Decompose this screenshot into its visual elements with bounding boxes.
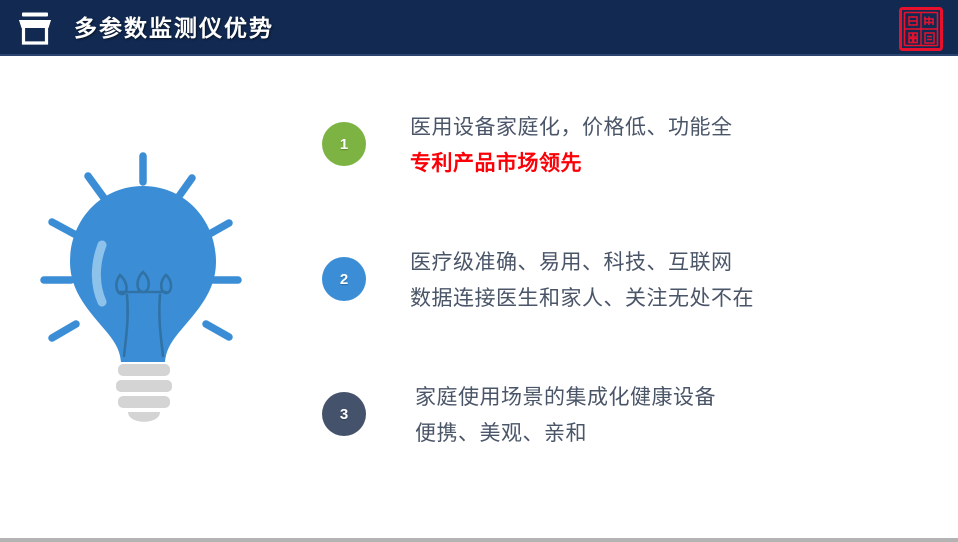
bullet-badge-2: 2 (322, 257, 366, 301)
bullet-text-3: 家庭使用场景的集成化健康设备 便携、美观、亲和 (415, 380, 716, 452)
advantages-list: 1 医用设备家庭化，价格低、功能全 专利产品市场领先 2 医疗级准确、易用、科技… (322, 110, 922, 515)
page-title: 多参数监测仪优势 (74, 12, 274, 44)
bullet-badge-1: 1 (322, 122, 366, 166)
bullet-line: 家庭使用场景的集成化健康设备 (415, 380, 716, 416)
bullet-line-highlight: 专利产品市场领先 (410, 146, 733, 182)
bullet-line: 医用设备家庭化，价格低、功能全 (410, 110, 733, 146)
bullet-text-1: 医用设备家庭化，价格低、功能全 专利产品市场领先 (410, 110, 733, 182)
list-item: 2 医疗级准确、易用、科技、互联网 数据连接医生和家人、关注无处不在 (322, 245, 922, 380)
bulb-base (116, 364, 172, 422)
header-bar: 多参数监测仪优势 (0, 0, 958, 56)
slide-root: 多参数监测仪优势 (0, 0, 958, 542)
storefront-icon (16, 11, 54, 45)
footer-divider (0, 538, 958, 542)
red-seal-stamp (898, 6, 944, 52)
bullet-text-2: 医疗级准确、易用、科技、互联网 数据连接医生和家人、关注无处不在 (410, 245, 754, 317)
bullet-line: 数据连接医生和家人、关注无处不在 (410, 281, 754, 317)
bullet-line: 便携、美观、亲和 (415, 416, 716, 452)
list-item: 3 家庭使用场景的集成化健康设备 便携、美观、亲和 (322, 380, 922, 515)
lightbulb-illustration (28, 140, 268, 430)
bullet-line: 医疗级准确、易用、科技、互联网 (410, 245, 754, 281)
bullet-badge-3: 3 (322, 392, 366, 436)
list-item: 1 医用设备家庭化，价格低、功能全 专利产品市场领先 (322, 110, 922, 245)
